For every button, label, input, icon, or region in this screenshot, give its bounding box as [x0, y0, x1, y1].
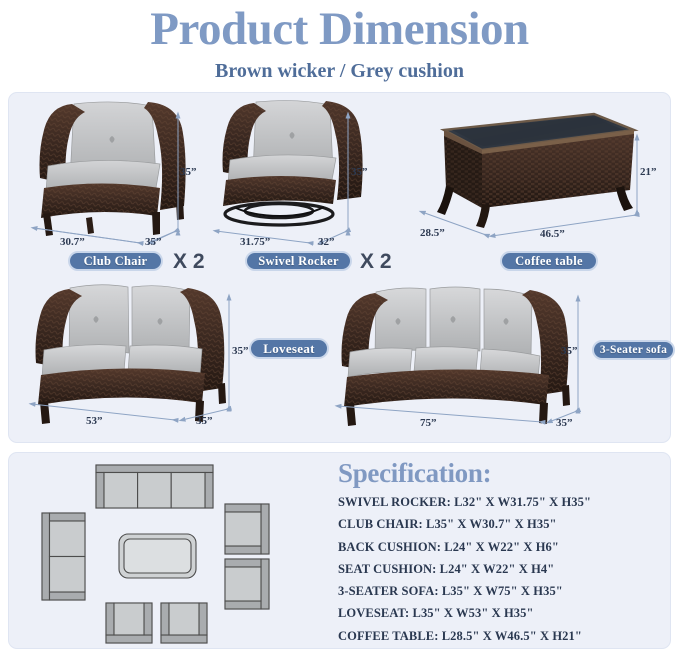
three-seater-sofa-figure: [334, 278, 586, 428]
swivel-rocker-multiplier: X 2: [360, 250, 392, 274]
page-title: Product Dimension: [0, 4, 679, 54]
coffee-table-illustration: [412, 108, 652, 238]
swivel-rocker-label[interactable]: Swivel Rocker: [245, 251, 352, 271]
swivel-rocker-height-dim: 35”: [351, 166, 368, 178]
coffee-table-depth-dim: 46.5”: [540, 228, 565, 240]
three-seater-depth-dim: 35”: [556, 417, 573, 429]
coffee-table-width-dim: 28.5”: [420, 227, 445, 239]
header: Product Dimension Brown wicker / Grey cu…: [0, 0, 679, 84]
floorplan-chair-right-lower: [225, 559, 269, 609]
loveseat-label[interactable]: Loveseat: [249, 338, 329, 359]
spec-line-swivel-rocker: SWIVEL ROCKER: L32" X W31.75" X H35": [338, 491, 668, 513]
swivel-rocker-width-dim: 31.75”: [240, 236, 270, 248]
club-chair-height-dim: 35”: [180, 166, 197, 178]
three-seater-sofa-illustration: [334, 278, 586, 428]
spec-line-loveseat: LOVESEAT: L35" X W53" X H35": [338, 602, 668, 624]
loveseat-width-dim: 53”: [86, 415, 103, 427]
floorplan-diagram: [22, 458, 322, 648]
page-subtitle: Brown wicker / Grey cushion: [0, 58, 679, 84]
floorplan-loveseat: [42, 513, 85, 600]
spec-line-seat-cushion: SEAT CUSHION: L24" X W22" X H4": [338, 558, 668, 580]
floorplan-illustration: [22, 458, 322, 648]
club-chair-depth-dim: 35”: [145, 236, 162, 248]
club-chair-label[interactable]: Club Chair: [68, 251, 163, 271]
club-chair-width-dim: 30.7”: [60, 236, 85, 248]
specification-block: Specification: SWIVEL ROCKER: L32" X W31…: [338, 458, 668, 648]
floorplan-coffee-table: [119, 534, 196, 578]
spec-line-club-chair: CLUB CHAIR: L35" X W30.7" X H35": [338, 513, 668, 535]
three-seater-sofa-label[interactable]: 3-Seater sofa: [592, 340, 675, 360]
loveseat-height-dim: 35”: [232, 345, 249, 357]
club-chair-multiplier: X 2: [173, 250, 205, 274]
loveseat-depth-dim: 35”: [196, 415, 213, 427]
floorplan-chair-bottom-right: [161, 603, 207, 643]
spec-line-back-cushion: BACK CUSHION: L24" X W22" X H6": [338, 536, 668, 558]
swivel-rocker-depth-dim: 32”: [318, 236, 335, 248]
floorplan-chair-right-upper: [225, 504, 269, 554]
coffee-table-label[interactable]: Coffee table: [500, 251, 598, 271]
three-seater-width-dim: 75”: [420, 417, 437, 429]
specification-title: Specification:: [338, 458, 668, 488]
floorplan-sofa-3seater: [96, 465, 213, 508]
coffee-table-figure: [412, 108, 652, 238]
spec-line-coffee-table: COFFEE TABLE: L28.5" X W46.5" X H21": [338, 625, 668, 647]
three-seater-height-dim: 35”: [561, 345, 578, 357]
spec-line-3seater-sofa: 3-SEATER SOFA: L35" X W75" X H35": [338, 580, 668, 602]
loveseat-illustration: [28, 278, 238, 428]
loveseat-figure: [28, 278, 238, 428]
coffee-table-height-dim: 21”: [640, 166, 657, 178]
floorplan-chair-bottom-left: [106, 603, 152, 643]
